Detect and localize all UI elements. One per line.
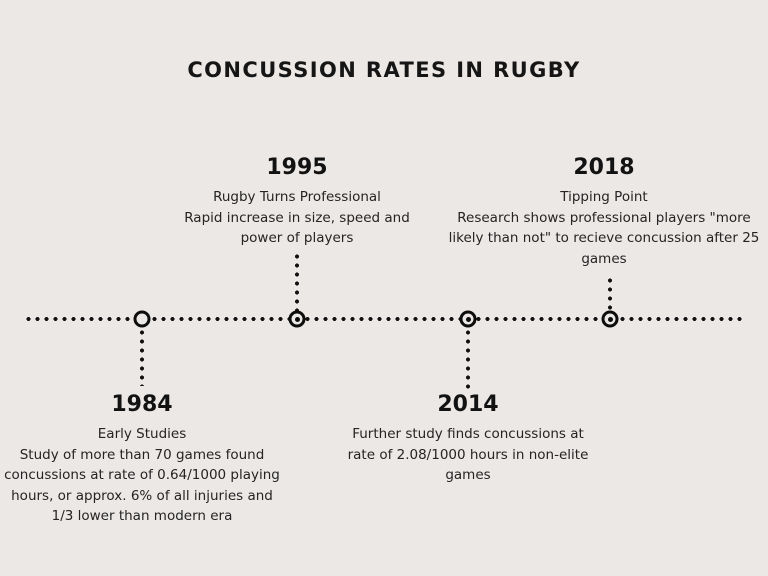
timeline-marker-1984[interactable] bbox=[134, 311, 151, 328]
timeline-axis bbox=[24, 317, 744, 321]
entry-body-2014: Further study finds concussions at rate … bbox=[345, 424, 591, 486]
timeline-marker-1995[interactable] bbox=[289, 311, 306, 328]
entry-year-1984: 1984 bbox=[4, 392, 280, 417]
timeline-marker-2018[interactable] bbox=[602, 311, 619, 328]
connector-2018 bbox=[608, 276, 612, 312]
connector-1984 bbox=[140, 328, 144, 386]
timeline-entry-2014: 2014 Further study finds concussions at … bbox=[345, 392, 591, 486]
connector-2014 bbox=[466, 328, 470, 390]
entry-year-2014: 2014 bbox=[345, 392, 591, 417]
page-title: CONCUSSION RATES IN RUGBY bbox=[0, 58, 768, 82]
timeline-entry-1995: 1995 Rugby Turns Professional Rapid incr… bbox=[172, 155, 422, 249]
entry-subtitle-2018: Tipping Point bbox=[442, 187, 766, 207]
entry-year-2018: 2018 bbox=[442, 155, 766, 180]
entry-body-2018: Research shows professional players "mor… bbox=[442, 208, 766, 270]
entry-body-1984: Study of more than 70 games found concus… bbox=[4, 445, 280, 527]
timeline-infographic: CONCUSSION RATES IN RUGBY 1995 Rugby Tur… bbox=[0, 0, 768, 576]
timeline-entry-2018: 2018 Tipping Point Research shows profes… bbox=[442, 155, 766, 269]
entry-subtitle-1995: Rugby Turns Professional bbox=[172, 187, 422, 207]
entry-year-1995: 1995 bbox=[172, 155, 422, 180]
timeline-entry-1984: 1984 Early Studies Study of more than 70… bbox=[4, 392, 280, 527]
entry-body-1995: Rapid increase in size, speed and power … bbox=[172, 208, 422, 249]
timeline-marker-2014[interactable] bbox=[460, 311, 477, 328]
entry-subtitle-1984: Early Studies bbox=[4, 424, 280, 444]
connector-1995 bbox=[295, 252, 299, 312]
